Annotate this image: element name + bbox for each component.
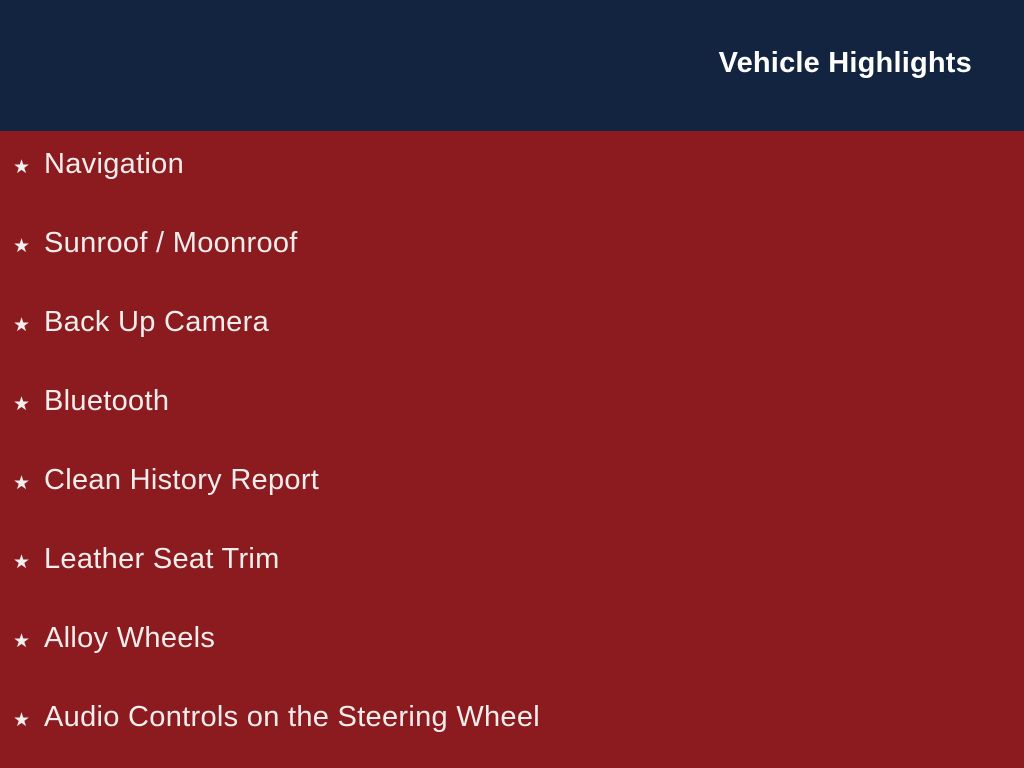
list-item: ★ Clean History Report — [0, 460, 1024, 539]
list-item: ★ Leather Seat Trim — [0, 539, 1024, 618]
list-item-label: Bluetooth — [44, 381, 169, 421]
list-item-label: Leather Seat Trim — [44, 539, 280, 579]
list-item: ★ Navigation — [0, 144, 1024, 223]
highlights-section: ★ Navigation ★ Sunroof / Moonroof ★ Back… — [0, 131, 1024, 768]
list-item: ★ Audio Controls on the Steering Wheel — [0, 697, 1024, 768]
list-item: ★ Back Up Camera — [0, 302, 1024, 381]
list-item-label: Sunroof / Moonroof — [44, 223, 298, 263]
star-icon: ★ — [13, 226, 44, 266]
star-icon: ★ — [13, 463, 44, 503]
star-icon: ★ — [13, 384, 44, 424]
list-item: ★ Bluetooth — [0, 381, 1024, 460]
star-icon: ★ — [13, 542, 44, 582]
list-item: ★ Alloy Wheels — [0, 618, 1024, 697]
list-item-label: Clean History Report — [44, 460, 319, 500]
list-item-label: Audio Controls on the Steering Wheel — [44, 697, 540, 737]
star-icon: ★ — [13, 147, 44, 187]
header-band: Vehicle Highlights — [0, 0, 1024, 131]
list-item-label: Back Up Camera — [44, 302, 269, 342]
list-item: ★ Sunroof / Moonroof — [0, 223, 1024, 302]
highlights-list: ★ Navigation ★ Sunroof / Moonroof ★ Back… — [0, 144, 1024, 768]
star-icon: ★ — [13, 621, 44, 661]
star-icon: ★ — [13, 305, 44, 345]
page-title: Vehicle Highlights — [719, 45, 972, 81]
list-item-label: Navigation — [44, 144, 184, 184]
star-icon: ★ — [13, 700, 44, 740]
list-item-label: Alloy Wheels — [44, 618, 215, 658]
vehicle-highlights-slide: Vehicle Highlights ★ Navigation ★ Sunroo… — [0, 0, 1024, 768]
